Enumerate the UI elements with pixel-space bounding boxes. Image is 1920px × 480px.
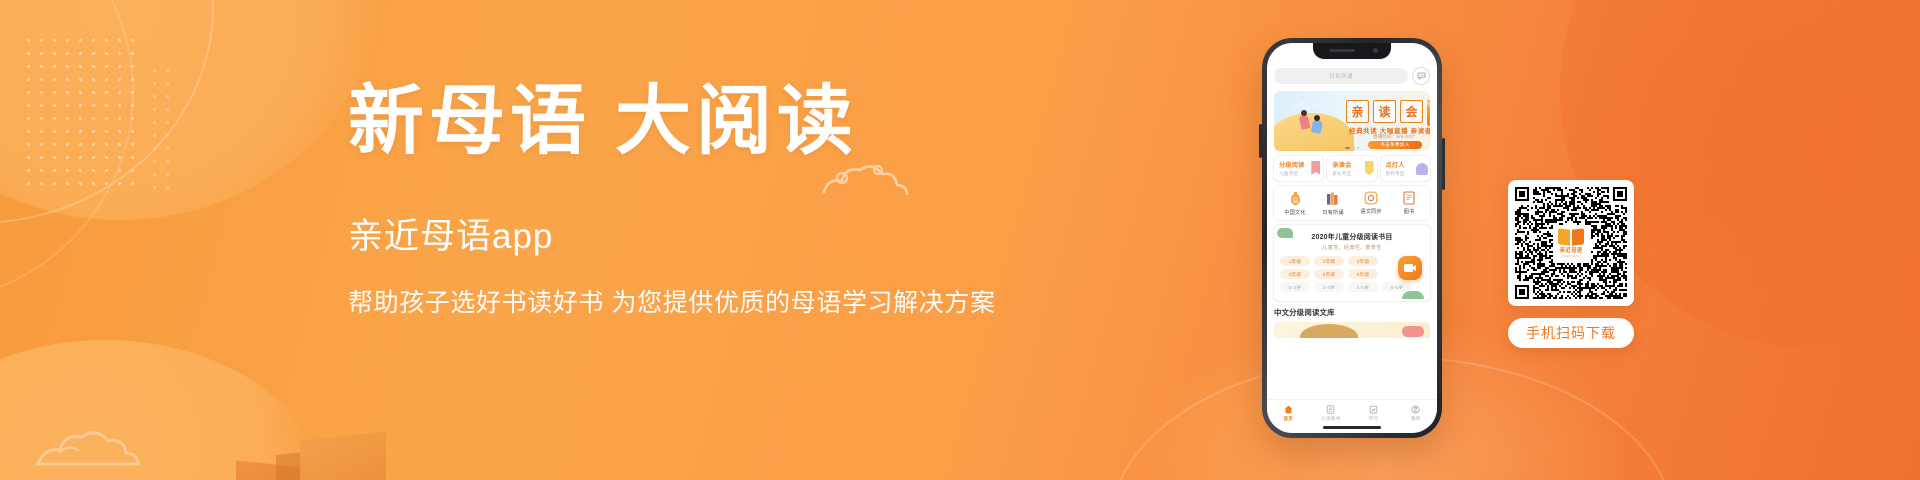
banner-tagline: 帮助孩子选好书读好书 为您提供优质的母语学习解决方案	[348, 283, 1048, 319]
decor-dot-grid-2	[148, 64, 174, 194]
decor-arc-top-left-2	[0, 0, 134, 304]
phone-notch	[1313, 43, 1391, 59]
hero-title: 亲 读 会 报名中	[1346, 100, 1430, 126]
play-video-icon[interactable]	[1398, 256, 1422, 280]
tab-label: 小读者书	[1321, 416, 1340, 422]
brand-logo: 亲近母语 QINJIN MUYU	[1554, 226, 1588, 260]
tab-label: 首页	[1283, 416, 1293, 422]
age-chip[interactable]: 4-5岁	[1348, 282, 1378, 292]
tab-home[interactable]: 首页	[1267, 405, 1310, 422]
hero-banner[interactable]: 亲 读 会 报名中 经典共读 大咖直播 亲读者说 直播时间：9/6-9/27 点…	[1274, 91, 1430, 151]
age-chip[interactable]: 3-4岁	[1314, 282, 1344, 292]
book-icon	[1403, 191, 1415, 205]
quick-nav-label: 语文同步	[1360, 208, 1382, 215]
grade-chip[interactable]: 2年级	[1314, 256, 1344, 266]
message-icon[interactable]	[1412, 67, 1430, 85]
home-icon	[1284, 405, 1293, 414]
decor-cube-back	[236, 460, 306, 480]
grade-chip[interactable]: 4年级	[1280, 269, 1310, 279]
grade-chips: 1年级 2年级 3年级 4年级 5年级 6年级 0-3岁 3-4岁 4-	[1280, 256, 1424, 292]
logo-en: QINJIN MUYU	[1561, 255, 1580, 258]
page-title: 新母语 大阅读	[348, 84, 1048, 162]
hero-char-3: 会	[1400, 100, 1423, 123]
app-tabbar: 首页 小读者书 学习 我的	[1267, 399, 1437, 426]
library-title: 中文分级阅读文库	[1274, 307, 1430, 318]
tab-study[interactable]: 学习	[1352, 405, 1395, 422]
grade-chip[interactable]: 5年级	[1314, 269, 1344, 279]
booklist-subtitle: 儿童性、经典性、教育性	[1280, 244, 1424, 251]
library-banner[interactable]	[1274, 322, 1430, 338]
grade-chip[interactable]: 1年级	[1280, 256, 1310, 266]
decor-cloud-bottom-left	[30, 414, 180, 474]
person-icon	[1416, 163, 1428, 175]
decor-cube-front	[300, 431, 386, 480]
banner-copy: 新母语 大阅读 亲近母语app 帮助孩子选好书读好书 为您提供优质的母语学习解决…	[348, 84, 1048, 319]
leaf-icon-2	[1402, 291, 1424, 299]
vase-icon	[1289, 191, 1302, 206]
phone-mockup: 日有所诵 亲 读 会 报名中	[1262, 38, 1442, 438]
profile-icon	[1411, 405, 1420, 414]
search-input[interactable]: 日有所诵	[1274, 68, 1408, 84]
hero-ribbon: 报名中	[1427, 100, 1430, 126]
tab-reader[interactable]: 小读者书	[1310, 405, 1353, 422]
hero-join-button[interactable]: 点击免费加入	[1368, 141, 1422, 149]
grade-chip[interactable]: 3年级	[1348, 256, 1378, 266]
age-chip[interactable]: 0-3岁	[1280, 282, 1310, 292]
promo-banner: 新母语 大阅读 亲近母语app 帮助孩子选好书读好书 为您提供优质的母语学习解决…	[0, 0, 1920, 480]
books-icon	[1326, 191, 1340, 206]
decor-arc-top-left	[0, 0, 214, 224]
hero-char-2: 读	[1373, 100, 1396, 123]
leaf-icon	[1277, 228, 1293, 238]
booklist-title: 2020年儿童分级阅读书目	[1280, 232, 1424, 242]
download-button[interactable]: 手机扫码下载	[1508, 318, 1634, 348]
quick-nav-item-recitation[interactable]: 日有所诵	[1314, 191, 1352, 216]
booklist-section: 2020年儿童分级阅读书目 儿童性、经典性、教育性 1年级 2年级 3年级 4年…	[1274, 225, 1430, 301]
phone-screen: 日有所诵 亲 读 会 报名中	[1267, 43, 1437, 433]
book-logo-icon	[1558, 229, 1584, 245]
tab-profile[interactable]: 我的	[1395, 405, 1438, 422]
app-name-subtitle: 亲近母语app	[348, 208, 1048, 259]
quick-nav: 中国文化 日有所诵	[1274, 186, 1430, 220]
qr-code: 亲近母语 QINJIN MUYU	[1508, 180, 1634, 306]
grade-chip[interactable]: 6年级	[1348, 269, 1378, 279]
study-icon	[1369, 405, 1378, 414]
quick-nav-label: 日有所诵	[1322, 209, 1344, 216]
app-search-row: 日有所诵	[1274, 67, 1430, 85]
decor-blob-top-left	[0, 0, 380, 220]
hero-date: 直播时间：9/6-9/27	[1340, 134, 1430, 140]
birds-icon	[1292, 101, 1322, 115]
frame-icon	[1364, 191, 1378, 205]
tab-label: 我的	[1411, 416, 1421, 422]
feature-cards: 分级阅读 儿童专区 亲读会 家长专区 点灯人 教师专区	[1274, 156, 1430, 181]
quick-nav-label: 图书	[1404, 208, 1415, 215]
quick-nav-item-books[interactable]: 图书	[1390, 191, 1428, 215]
feature-card-reading-club[interactable]: 亲读会 家长专区	[1327, 156, 1376, 181]
logo-name: 亲近母语	[1560, 246, 1583, 254]
qr-section: 亲近母语 QINJIN MUYU 手机扫码下载	[1508, 180, 1634, 348]
quick-nav-label: 中国文化	[1284, 209, 1306, 216]
home-indicator	[1323, 426, 1381, 429]
tab-label: 学习	[1368, 416, 1378, 422]
quick-nav-item-sync[interactable]: 语文同步	[1352, 191, 1390, 215]
hero-char-1: 亲	[1346, 100, 1369, 123]
feature-card-lamplighter[interactable]: 点灯人 教师专区	[1381, 156, 1430, 181]
carousel-dots[interactable]	[1345, 147, 1359, 150]
feature-card-graded-reading[interactable]: 分级阅读 儿童专区	[1274, 156, 1323, 181]
reader-icon	[1326, 405, 1335, 414]
decor-dot-grid	[22, 34, 142, 194]
decor-blob-bottom-left	[0, 340, 320, 480]
quick-nav-item-culture[interactable]: 中国文化	[1276, 191, 1314, 216]
